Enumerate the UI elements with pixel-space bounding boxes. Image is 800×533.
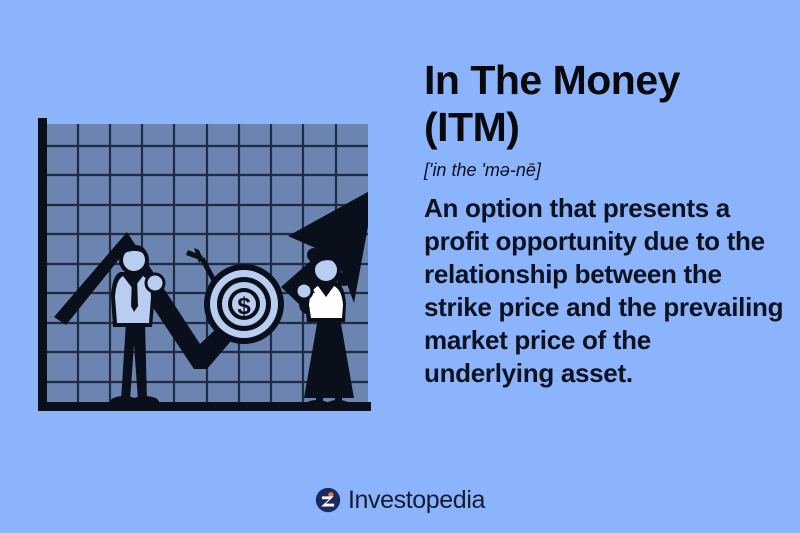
- dollar-target-icon: $: [204, 264, 284, 344]
- infographic-page: $: [0, 0, 800, 533]
- svg-text:$: $: [237, 293, 251, 320]
- investopedia-logo-icon: [315, 487, 341, 513]
- brand-name: Investopedia: [348, 487, 485, 513]
- pronunciation-text: ['in the 'mə-nē]: [424, 159, 784, 181]
- page-title: In The Money (ITM): [424, 57, 784, 151]
- brand-footer: Investopedia: [0, 487, 800, 513]
- definition-text: An option that presents a profit opportu…: [424, 192, 784, 390]
- in-the-money-illustration: $: [0, 0, 400, 470]
- definition-panel: In The Money (ITM) ['in the 'mə-nē] An o…: [424, 57, 784, 390]
